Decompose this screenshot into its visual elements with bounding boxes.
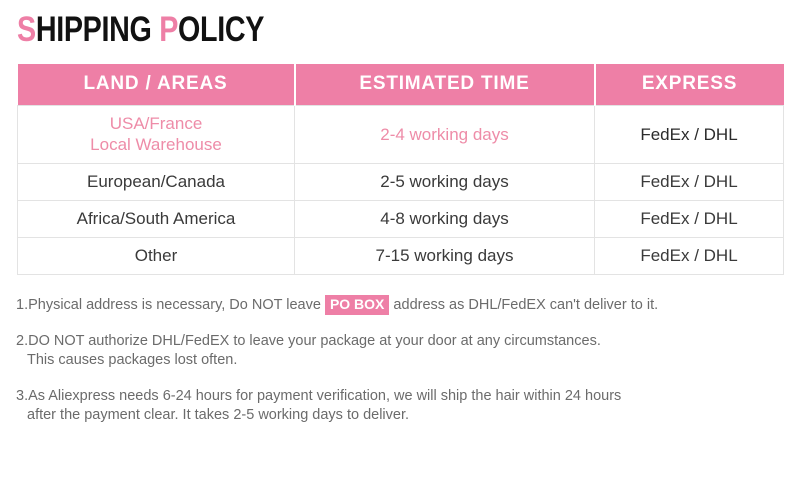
page-title: SHIPPING POLICY [17,11,264,49]
cell-estimated-time: 2-4 working days [295,105,595,163]
table-header-row: LAND / AREAS ESTIMATED TIME EXPRESS [18,64,784,105]
cell-area: Other [18,237,295,274]
title-rest-shipping: HIPPING [36,10,152,49]
title-rest-policy: OLICY [178,10,264,49]
title-accent-s: S [17,10,36,49]
note2-line1: 2.DO NOT authorize DHL/FedEX to leave yo… [16,333,601,349]
cell-area: USA/France Local Warehouse [18,105,295,163]
note-item-2: 2.DO NOT authorize DHL/FedEX to leave yo… [16,332,791,370]
note2-line2: This causes packages lost often. [16,351,791,370]
column-header-land-areas: LAND / AREAS [18,64,295,105]
cell-express: FedEx / DHL [595,163,784,200]
cell-area-line2: Local Warehouse [24,134,288,155]
cell-estimated-time: 7-15 working days [295,237,595,274]
table-row: USA/France Local Warehouse 2-4 working d… [18,105,784,163]
cell-express: FedEx / DHL [595,237,784,274]
cell-area: European/Canada [18,163,295,200]
note1-text-after: address as DHL/FedEX can't deliver to it… [389,297,658,313]
note1-text-before: 1.Physical address is necessary, Do NOT … [16,297,325,313]
shipping-policy-page: SHIPPING POLICY LAND / AREAS ESTIMATED T… [0,0,800,479]
title-accent-p: P [159,10,178,49]
column-header-estimated-time: ESTIMATED TIME [295,64,595,105]
policy-notes: 1.Physical address is necessary, Do NOT … [16,295,791,442]
table-header: LAND / AREAS ESTIMATED TIME EXPRESS [18,64,784,105]
table-row: Other 7-15 working days FedEx / DHL [18,237,784,274]
table-row: European/Canada 2-5 working days FedEx /… [18,163,784,200]
po-box-badge: PO BOX [325,295,389,315]
table-row: Africa/South America 4-8 working days Fe… [18,200,784,237]
column-header-express: EXPRESS [595,64,784,105]
note-item-1: 1.Physical address is necessary, Do NOT … [16,295,791,315]
table-body: USA/France Local Warehouse 2-4 working d… [18,105,784,274]
note3-line1: 3.As Aliexpress needs 6-24 hours for pay… [16,388,621,404]
cell-express: FedEx / DHL [595,200,784,237]
note-item-3: 3.As Aliexpress needs 6-24 hours for pay… [16,387,791,425]
cell-area: Africa/South America [18,200,295,237]
cell-estimated-time: 4-8 working days [295,200,595,237]
cell-estimated-time: 2-5 working days [295,163,595,200]
cell-express: FedEx / DHL [595,105,784,163]
note3-line2: after the payment clear. It takes 2-5 wo… [16,406,791,425]
cell-area-line1: USA/France [24,113,288,134]
shipping-table: LAND / AREAS ESTIMATED TIME EXPRESS USA/… [17,64,784,275]
